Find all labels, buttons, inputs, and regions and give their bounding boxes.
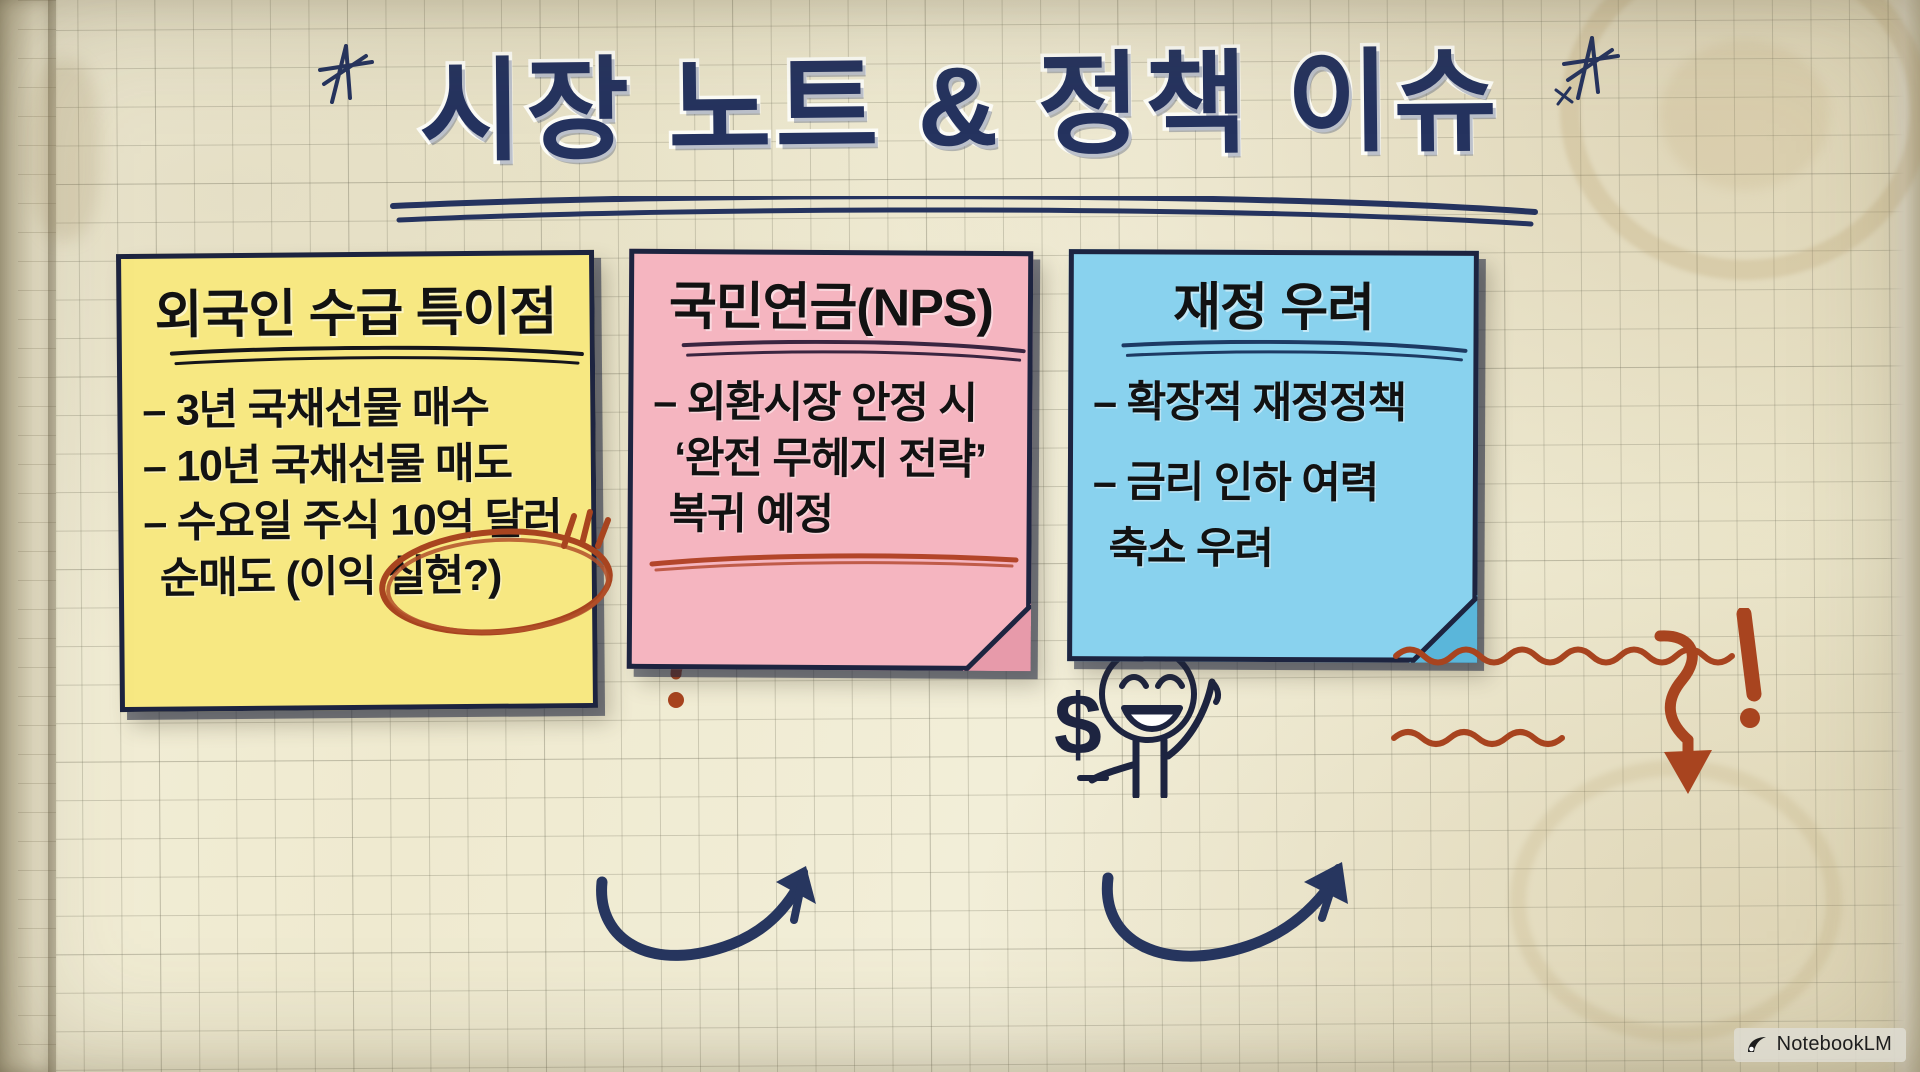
notebooklm-label: NotebookLM <box>1777 1033 1892 1056</box>
page-vignette <box>0 0 1920 1072</box>
notebooklm-watermark: NotebookLM <box>1734 1028 1906 1062</box>
notebooklm-logo-icon <box>1746 1035 1768 1055</box>
infographic-page: 시장 노트 & 정책 이슈 외국인 수급 특이점 <box>0 0 1920 1072</box>
